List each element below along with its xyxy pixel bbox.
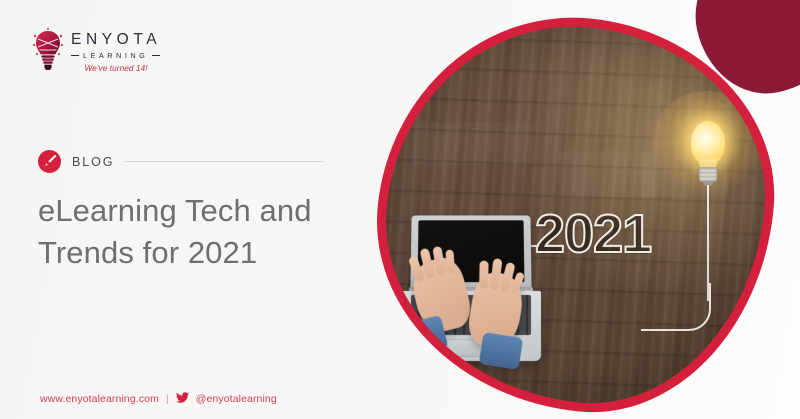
enyota-logo[interactable]: ENYOTA LEARNING We've turned 14! [33,28,161,73]
wood-plank-patch [413,123,533,165]
dash-right [152,55,160,56]
website-link[interactable]: www.enyotalearning.com [40,393,159,405]
shirt-sleeve-right [479,332,524,370]
headline-line-1: eLearning Tech and [38,190,368,232]
footer-separator: | [166,393,169,405]
headline-line-2: Trends for 2021 [38,232,368,274]
blog-banner: 2021 [0,0,800,419]
brand-subtitle-row: LEARNING [71,52,161,59]
lightbulb-icon [675,115,737,207]
cord-year-2021: 2021 [535,203,651,265]
laptop-photo [397,215,545,365]
lightbulb-icon [33,28,63,70]
hero-image: 2021 [378,18,772,410]
pen-nib-icon [38,150,61,173]
hero-photo-wood-desk: 2021 [368,8,781,419]
page-title: eLearning Tech and Trends for 2021 [38,190,368,275]
blog-label: BLOG [72,155,114,169]
cord-elbow [641,283,711,331]
brand-name: ENYOTA [71,32,161,48]
twitter-handle[interactable]: @enyotalearning [196,393,277,405]
blog-label-row: BLOG [38,150,323,173]
twitter-bird-icon[interactable] [176,392,189,406]
blog-divider-rule [125,161,323,162]
dash-left [71,55,79,56]
footer: www.enyotalearning.com | @enyotalearning [0,383,800,419]
brand-tagline: We've turned 14! [71,64,161,73]
brand-subtitle: LEARNING [83,52,148,59]
bulb-screw-base [699,167,717,182]
